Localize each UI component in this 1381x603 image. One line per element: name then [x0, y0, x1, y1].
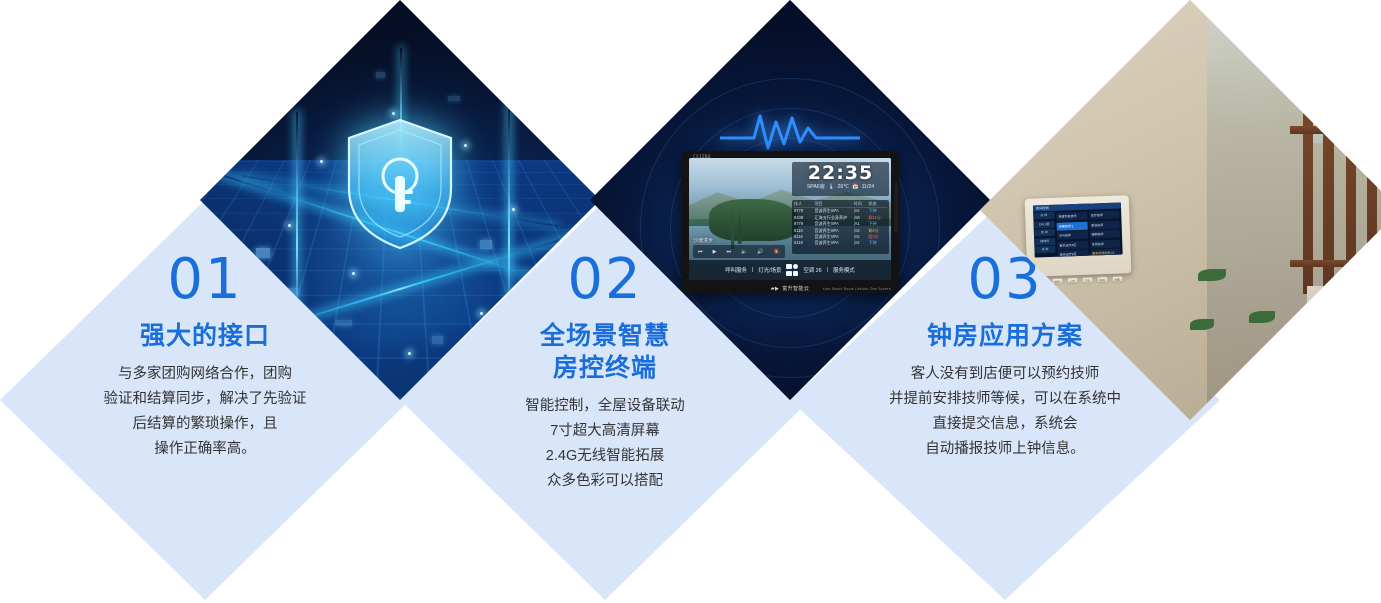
- panel-2-title-line: 全场景智慧: [458, 320, 752, 352]
- tablet-side-keys[interactable]: [894, 182, 898, 233]
- divider: |: [752, 267, 753, 273]
- media-control-bar[interactable]: ⏮ ▶ ⏭ 🔉 🔊 🔇: [693, 245, 785, 258]
- mute-icon[interactable]: 🔇: [774, 249, 780, 255]
- wall-panel-left-keys[interactable]: 点 钟CALL服加 钟换钟员点 钟: [1033, 205, 1056, 258]
- room-label: SPA6房: [807, 183, 825, 191]
- technician-list[interactable]: 技人 项目 时间 状态 8778音波养生SPA|A2下钟8109汇海五行全身养护…: [792, 200, 889, 254]
- play-icon[interactable]: ▶: [713, 249, 717, 255]
- calendar-icon: 📅: [852, 183, 858, 191]
- wall-panel-button[interactable]: 下页: [1081, 277, 1093, 284]
- clock-widget: 22:35 SPA6房 🌡 26℃ 📅 11/24: [792, 162, 889, 196]
- wall-panel-list-item[interactable]: 搓浴技师: [1089, 221, 1120, 230]
- list-item[interactable]: 8119音波养生SPA|A2下钟: [794, 240, 887, 246]
- wallpaper-tree: [738, 208, 742, 244]
- panel-2-desc-line: 7寸超大高清屏幕: [458, 419, 752, 444]
- panel-2-description: 智能控制，全屋设备联动 7寸超大高清屏幕 2.4G无线智能拓展 众多色彩可以搭配: [458, 394, 752, 494]
- cell-time: |A2: [854, 240, 869, 246]
- wall-panel-list-item[interactable]: 采耳技师: [1090, 240, 1121, 249]
- wall-panel-column-right[interactable]: 足疗技师搓浴技师修脚技师采耳技师更多技师类型1/2: [1089, 211, 1121, 254]
- panel-2-title: 全场景智慧 房控终端: [458, 320, 752, 384]
- wall-panel-screen[interactable]: 点 钟CALL服加 钟换钟员点 钟 保健专家技师保健技师 2SPA技师音乐治疗A…: [1033, 203, 1123, 258]
- volume-up-icon[interactable]: 🔊: [757, 249, 763, 255]
- tablet-bottom-bar[interactable]: 呼叫服务 | 灯光/场景 空调 26 | 服务模式: [689, 260, 891, 280]
- window-glass: [1311, 0, 1381, 143]
- home-grid-icon[interactable]: [786, 264, 798, 276]
- wall-panel-key[interactable]: 点 钟: [1033, 212, 1054, 220]
- panel-3-desc-line: 直接提交信息，系统会: [838, 412, 1172, 437]
- thermometer-icon: 🌡: [828, 183, 835, 191]
- wall-panel-key[interactable]: CALL服: [1034, 221, 1055, 229]
- wall-panel-key[interactable]: 换钟员: [1034, 238, 1055, 246]
- wall-panel-button[interactable]: 设置: [1111, 276, 1123, 283]
- plant-leaf: [980, 13, 1002, 23]
- wall-panel-lists[interactable]: 保健专家技师保健技师 2SPA技师音乐治疗A区音乐治疗B区 足疗技师搓浴技师修脚…: [1054, 203, 1123, 257]
- wall-panel-list-item[interactable]: 修脚技师: [1090, 230, 1121, 239]
- wallpaper-tree: [731, 205, 735, 249]
- wall-panel-button[interactable]: 上页: [1066, 277, 1078, 284]
- plant-leaf: [1198, 269, 1226, 281]
- volume-down-icon[interactable]: 🔉: [741, 249, 747, 255]
- bottom-button-service[interactable]: 服务模式: [833, 266, 855, 274]
- wall-panel-list-item[interactable]: 音乐治疗A区: [1057, 241, 1088, 250]
- footer-logo-icon: ▰▶: [771, 286, 780, 292]
- date-value: 11/24: [862, 183, 875, 191]
- wall-panel-button[interactable]: 取消: [1096, 276, 1108, 283]
- panel-2-desc-line: 智能控制，全屋设备联动: [458, 394, 752, 419]
- tablet-screen[interactable]: 22:35 SPA6房 🌡 26℃ 📅 11/24 技人 项目: [689, 158, 891, 280]
- plant-leaf: [1249, 311, 1275, 323]
- wall-panel-list-item[interactable]: SPA技师: [1057, 231, 1088, 240]
- footer-brand: 富升智能云: [782, 285, 809, 292]
- feature-diamond-banner: 01 强大的接口 与多家团购网络合作，团购 验证和结算同步，解决了先验证 后结算…: [0, 0, 1381, 603]
- shield-lock-icon: [341, 114, 459, 254]
- plant-leaf: [980, 0, 1010, 13]
- next-icon[interactable]: ⏭: [727, 249, 732, 255]
- temperature-value: 26℃: [837, 183, 849, 191]
- panel-1-title: 强大的接口: [58, 320, 352, 352]
- wall-panel-key[interactable]: 加 钟: [1034, 229, 1055, 237]
- wall-panel-list-item[interactable]: 更多技师类型1/2: [1090, 249, 1121, 258]
- panel-3-desc-line: 客人没有到店便可以预约技师: [838, 362, 1172, 387]
- wall-panel-key[interactable]: 点 钟: [1035, 246, 1056, 254]
- panel-3-desc-line: 自动播报技师上钟信息。: [838, 437, 1172, 462]
- wallpaper-island: [709, 199, 798, 240]
- panel-1-title-line: 强大的接口: [58, 320, 352, 352]
- divider: |: [827, 267, 828, 273]
- col-header-item: 项目: [814, 201, 853, 207]
- panel-2-title-line: 房控终端: [458, 352, 752, 384]
- bottom-button-ac[interactable]: 空调 26: [803, 266, 821, 274]
- panel-2-desc-line: 2.4G无线智能拓展: [458, 444, 752, 469]
- corridor-floor: [1307, 286, 1381, 420]
- footer-tagline: Your Smart Room Life\nIn One Screen: [823, 287, 891, 291]
- bottom-button-light[interactable]: 灯光/场景: [758, 266, 781, 274]
- panel-1-description: 与多家团购网络合作，团购 验证和结算同步，解决了先验证 后结算的繁琐操作，且 操…: [58, 362, 352, 462]
- wall-panel-list-item[interactable]: 保健专家技师: [1056, 212, 1087, 221]
- cell-tech: 8119: [794, 240, 814, 246]
- panel-2-desc-line: 众多色彩可以搭配: [458, 469, 752, 494]
- col-header-time: 时间: [854, 201, 869, 207]
- clock-subline: SPA6房 🌡 26℃ 📅 11/24: [795, 183, 886, 191]
- list-body: 8778音波养生SPA|A2下钟8109汇海五行全身养护|A8剩11分8779音…: [794, 208, 887, 246]
- panel-3-desc-line: 并提前安排技师等候，可以在系统中: [838, 387, 1172, 412]
- panel-3-description: 客人没有到店便可以预约技师 并提前安排技师等候，可以在系统中 直接提交信息，系统…: [838, 362, 1172, 462]
- tablet-footer: ▰▶ 富升智能云 Your Smart Room Life\nIn One Sc…: [681, 285, 899, 292]
- panel-1-desc-line: 与多家团购网络合作，团购: [58, 362, 352, 387]
- media-scene-label: 沙滩漫步: [693, 237, 713, 244]
- col-header-tech: 技人: [794, 201, 814, 207]
- plant-leaf: [980, 23, 1000, 32]
- wall-panel-list-item[interactable]: 音乐治疗B区: [1058, 250, 1089, 257]
- prev-icon[interactable]: ⏮: [698, 249, 703, 255]
- heartbeat-pulse-icon: [720, 108, 860, 154]
- wall-panel-list-item[interactable]: 足疗技师: [1089, 211, 1120, 220]
- col-header-status: 状态: [868, 201, 887, 207]
- panel-1-desc-line: 操作正确率高。: [58, 437, 352, 462]
- panel-1-desc-line: 后结算的繁琐操作，且: [58, 412, 352, 437]
- wall-panel-column-left[interactable]: 保健专家技师保健技师 2SPA技师音乐治疗A区音乐治疗B区: [1056, 212, 1088, 255]
- wall-panel-list-item[interactable]: 保健技师 2: [1057, 222, 1088, 231]
- cell-item: 音波养生SPA: [814, 240, 853, 246]
- panel-1-desc-line: 验证和结算同步，解决了先验证: [58, 387, 352, 412]
- cell-status: 下钟: [868, 240, 887, 246]
- wall-mounted-control-panel[interactable]: 房间控制 点 钟CALL服加 钟换钟员点 钟 保健专家技师保健技师 2SPA技师…: [1025, 196, 1132, 278]
- room-control-tablet[interactable]: CSIZBO 22:35 SPA6房 🌡: [681, 151, 899, 293]
- corridor-window-area: [1207, 0, 1381, 420]
- clock-time: 22:35: [795, 163, 886, 183]
- list-header-row: 技人 项目 时间 状态: [794, 201, 887, 208]
- bottom-button-call[interactable]: 呼叫服务: [725, 266, 747, 274]
